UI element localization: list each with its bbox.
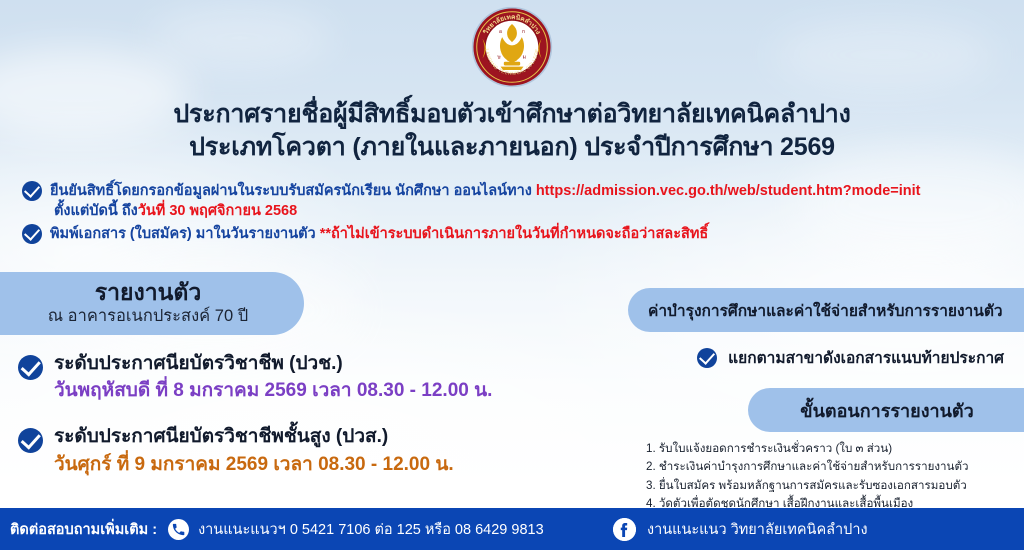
level-date: วันพฤหัสบดี ที่ 8 มกราคม 2569 เวลา 08.30… bbox=[54, 378, 492, 403]
svg-text:ษ: ษ bbox=[497, 54, 501, 60]
cloud-decoration bbox=[150, 8, 330, 68]
deadline-date: วันที่ 30 พฤศจิกายน 2568 bbox=[138, 203, 297, 219]
instruction-item-1-text: ยืนยันสิทธิ์โดยกรอกข้อมูลผ่านในระบบรับสม… bbox=[50, 180, 921, 202]
svg-text:ม: ม bbox=[523, 54, 527, 60]
step-item: 3. ยื่นใบสมัคร พร้อมหลักฐานการสมัครและรั… bbox=[646, 477, 1006, 495]
report-panel-header: รายงานตัว ณ อาคารอเนกประสงค์ 70 ปี bbox=[0, 272, 304, 335]
contact-phone: งานแนะแนวฯ 0 5421 7106 ต่อ 125 หรือ 08 6… bbox=[198, 518, 544, 541]
forfeit-warning: **ถ้าไม่เข้าระบบดำเนินการภายในวันที่กำหน… bbox=[320, 226, 709, 242]
check-circle-icon bbox=[18, 355, 43, 380]
facebook-glyph bbox=[613, 518, 636, 541]
title-line-2: ประเภทโควตา (ภายในและภายนอก) ประจำปีการศ… bbox=[0, 131, 1024, 164]
step-item: 1. รับใบแจ้งยอดการชำระเงินชั่วคราว (ใบ ๓… bbox=[646, 440, 1006, 458]
report-panel-title: รายงานตัว bbox=[95, 280, 201, 305]
instruction-list: ยืนยันสิทธิ์โดยกรอกข้อมูลผ่านในระบบรับสม… bbox=[22, 180, 1012, 246]
cloud-decoration bbox=[774, 20, 994, 90]
facebook-icon[interactable] bbox=[613, 518, 636, 541]
instruction-item-2-label: ตั้งแต่บัดนี้ ถึง bbox=[54, 203, 138, 219]
steps-list: 1. รับใบแจ้งยอดการชำระเงินชั่วคราว (ใบ ๓… bbox=[646, 440, 1006, 513]
fees-heading: ค่าบำรุงการศึกษาและค่าใช้จ่ายสำหรับการรา… bbox=[648, 298, 1003, 323]
instruction-item-1: ยืนยันสิทธิ์โดยกรอกข้อมูลผ่านในระบบรับสม… bbox=[22, 180, 1012, 202]
report-panel-location: ณ อาคารอเนกประสงค์ 70 ปี bbox=[48, 306, 248, 327]
level-item: ระดับประกาศนียบัตรวิชาชีพ (ปวช.) วันพฤหั… bbox=[18, 352, 618, 403]
phone-glyph bbox=[171, 522, 186, 537]
svg-text:ก: ก bbox=[522, 29, 525, 35]
instruction-item-1-label: ยืนยันสิทธิ์โดยกรอกข้อมูลผ่านในระบบรับสม… bbox=[50, 183, 536, 199]
facebook-page-name: งานแนะแนว วิทยาลัยเทคนิคลำปาง bbox=[647, 518, 868, 541]
instruction-item-2-text: ตั้งแต่บัดนี้ ถึงวันที่ 30 พฤศจิกายน 256… bbox=[54, 200, 297, 222]
facebook-contact[interactable]: งานแนะแนว วิทยาลัยเทคนิคลำปาง bbox=[613, 518, 868, 541]
phone-icon bbox=[168, 519, 189, 540]
title-line-1: ประกาศรายชื่อผู้มีสิทธิ์มอบตัวเข้าศึกษาต… bbox=[0, 98, 1024, 131]
level-name: ระดับประกาศนียบัตรวิชาชีพชั้นสูง (ปวส.) bbox=[54, 425, 454, 449]
check-circle-icon bbox=[697, 348, 717, 368]
page-title: ประกาศรายชื่อผู้มีสิทธิ์มอบตัวเข้าศึกษาต… bbox=[0, 98, 1024, 164]
check-circle-icon bbox=[22, 224, 42, 244]
level-schedule-list: ระดับประกาศนียบัตรวิชาชีพ (ปวช.) วันพฤหั… bbox=[18, 352, 618, 499]
level-date: วันศุกร์ ที่ 9 มกราคม 2569 เวลา 08.30 - … bbox=[54, 452, 454, 477]
contact-footer: ติดต่อสอบถามเพิ่มเติม : งานแนะแนวฯ 0 542… bbox=[0, 508, 1024, 550]
instruction-item-3-label: พิมพ์เอกสาร (ใบสมัคร) มาในวันรายงานตัว bbox=[50, 226, 320, 242]
contact-label: ติดต่อสอบถามเพิ่มเติม : bbox=[10, 518, 157, 541]
instruction-item-2: ตั้งแต่บัดนี้ ถึงวันที่ 30 พฤศจิกายน 256… bbox=[22, 200, 1012, 222]
announcement-poster: อ ก ษ ม วิทยาลัยเทคนิคลำปาง LAMPANG TECH… bbox=[0, 0, 1024, 550]
lampang-technical-college-crest-icon: อ ก ษ ม วิทยาลัยเทคนิคลำปาง LAMPANG TECH… bbox=[471, 6, 553, 88]
level-item: ระดับประกาศนียบัตรวิชาชีพชั้นสูง (ปวส.) … bbox=[18, 425, 618, 476]
svg-text:อ: อ bbox=[499, 29, 502, 35]
admission-url-link[interactable]: https://admission.vec.go.th/web/student.… bbox=[536, 183, 921, 199]
check-circle-icon bbox=[22, 181, 42, 201]
fees-note-row: แยกตามสาขาดังเอกสารแนบท้ายประกาศ bbox=[697, 345, 1004, 370]
level-name: ระดับประกาศนียบัตรวิชาชีพ (ปวช.) bbox=[54, 352, 492, 376]
step-item: 2. ชำระเงินค่าบำรุงการศึกษาและค่าใช้จ่าย… bbox=[646, 458, 1006, 476]
steps-header: ขั้นตอนการรายงานตัว bbox=[748, 388, 1024, 432]
fees-note-text: แยกตามสาขาดังเอกสารแนบท้ายประกาศ bbox=[728, 345, 1004, 370]
instruction-item-3-text: พิมพ์เอกสาร (ใบสมัคร) มาในวันรายงานตัว *… bbox=[50, 223, 708, 245]
instruction-item-3: พิมพ์เอกสาร (ใบสมัคร) มาในวันรายงานตัว *… bbox=[22, 223, 1012, 245]
steps-heading: ขั้นตอนการรายงานตัว bbox=[800, 396, 973, 425]
check-circle-icon bbox=[18, 428, 43, 453]
fees-header: ค่าบำรุงการศึกษาและค่าใช้จ่ายสำหรับการรา… bbox=[628, 288, 1024, 332]
college-logo: อ ก ษ ม วิทยาลัยเทคนิคลำปาง LAMPANG TECH… bbox=[471, 6, 553, 88]
